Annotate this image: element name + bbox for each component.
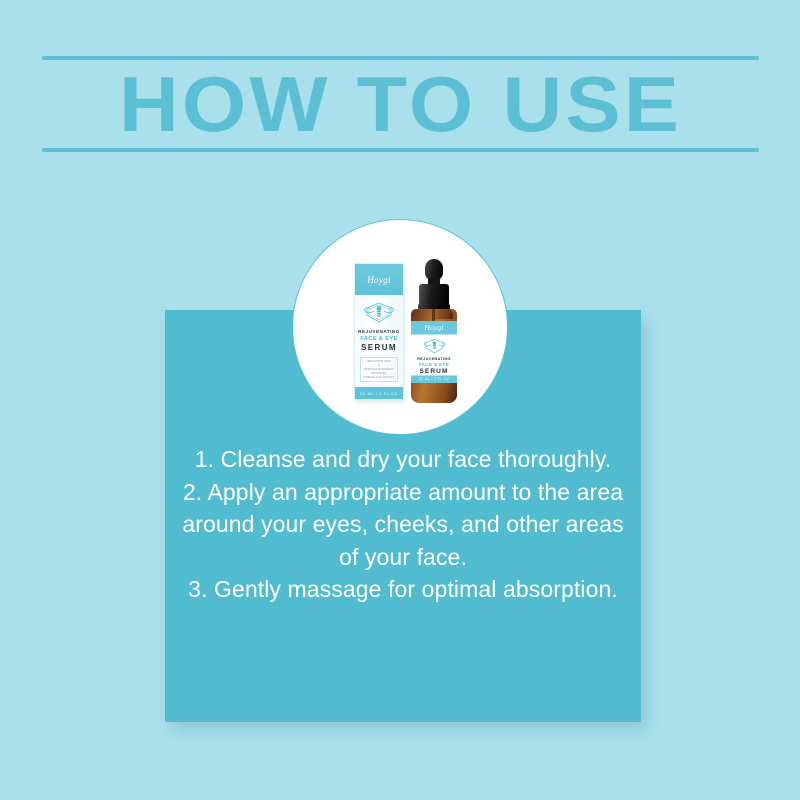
instructions-list: 1. Cleanse and dry your face thoroughly.… bbox=[178, 443, 628, 606]
page-title: HOW TO USE bbox=[20, 60, 780, 148]
bottle-label: Hoygi REJUVENATING FACE & EYE bbox=[411, 321, 457, 383]
carton-volume: 30 ML / 1 FL OZ bbox=[355, 387, 403, 399]
carton-line-1: REJUVENATING bbox=[358, 329, 400, 334]
bee-logo-icon bbox=[422, 337, 447, 355]
bottle-line-2: FACE & EYE bbox=[419, 362, 449, 367]
header-rule-bottom bbox=[42, 148, 759, 152]
bee-logo-icon bbox=[362, 300, 396, 325]
poster-canvas: HOW TO USE Hoygi bbox=[0, 0, 800, 800]
dropper-bulb bbox=[425, 259, 443, 280]
carton-fineprint: BRIGHTENS SKIN & REDUCES BLEMISHES ENHAN… bbox=[360, 357, 398, 382]
bottle-line-1: REJUVENATING bbox=[417, 357, 451, 361]
carton-line-2: FACE & EYE bbox=[360, 336, 397, 342]
carton-brand-name: Hoygi bbox=[367, 275, 391, 285]
carton-brand-band: Hoygi bbox=[355, 264, 403, 295]
dropper-cap bbox=[419, 284, 449, 306]
product-image-circle: Hoygi REJUVENATING bbox=[292, 219, 508, 435]
carton-fineprint-line-5: FIRMING & ELASTICITY bbox=[362, 376, 396, 380]
product-carton: Hoygi REJUVENATING bbox=[354, 263, 404, 400]
bottle-line-3: SERUM bbox=[420, 368, 449, 375]
header: HOW TO USE bbox=[42, 56, 759, 156]
instruction-step-1: 1. Cleanse and dry your face thoroughly. bbox=[178, 443, 628, 476]
instruction-step-2: 2. Apply an appropriate amount to the ar… bbox=[178, 476, 628, 574]
product-bottle: Hoygi REJUVENATING FACE & EYE bbox=[406, 259, 462, 404]
instruction-step-3: 3. Gently massage for optimal absorption… bbox=[178, 573, 628, 606]
bottle-volume: 30 ML / 1 FL OZ bbox=[419, 376, 449, 383]
carton-line-3: SERUM bbox=[361, 343, 397, 352]
bottle-brand-name: Hoygi bbox=[424, 321, 443, 335]
